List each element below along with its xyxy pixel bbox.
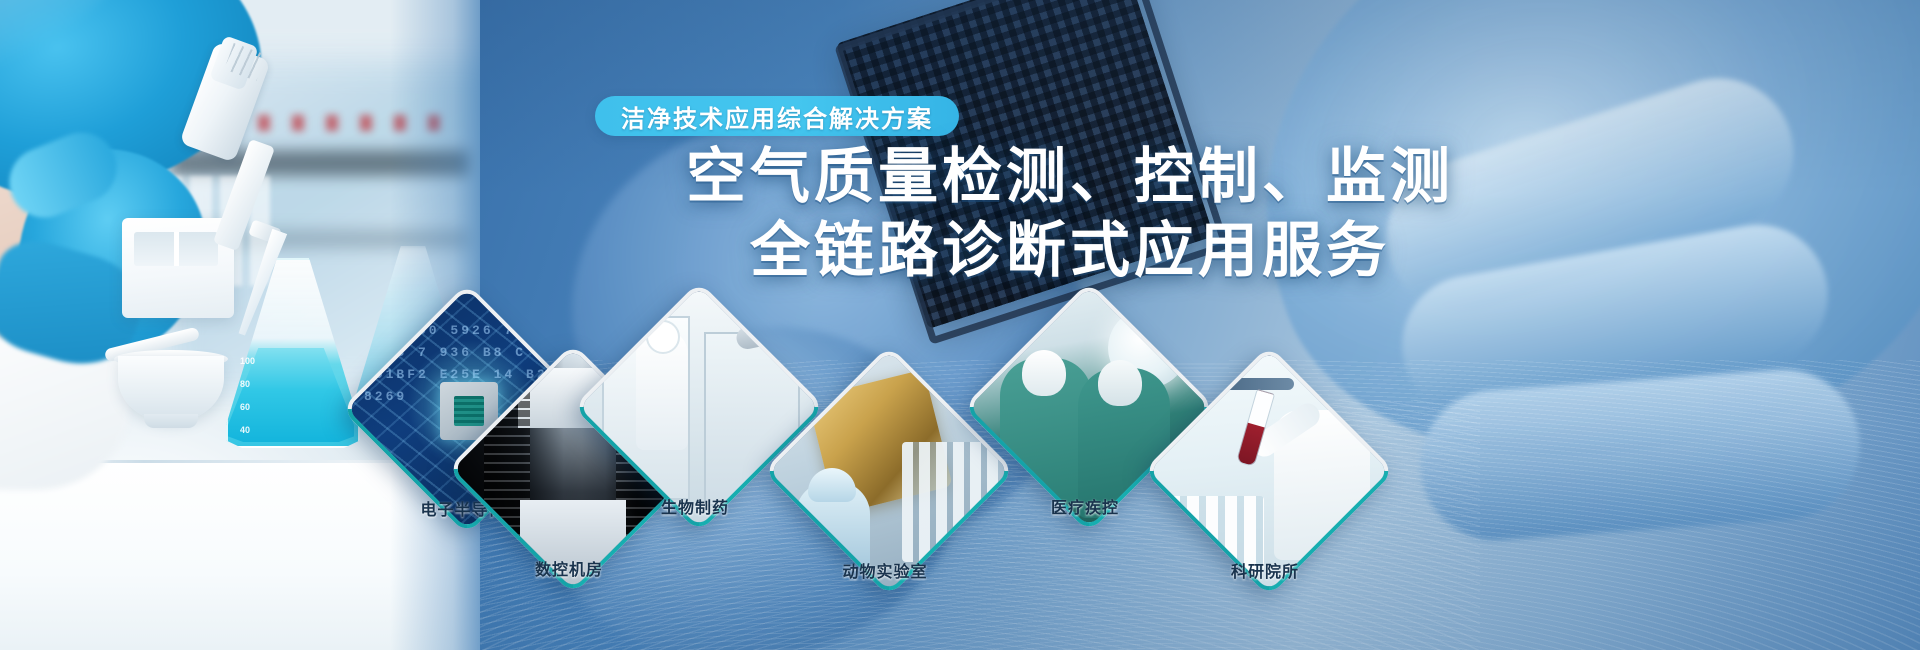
industry-card-animal-laboratory[interactable]: 动物实验室 <box>800 382 970 552</box>
card-label: 生物制药 <box>570 494 820 518</box>
pharma-technician-hood <box>646 320 680 354</box>
card-label: 数控机房 <box>444 556 694 580</box>
surgeon-two-mask <box>1098 360 1142 406</box>
card-label: 动物实验室 <box>760 558 1010 582</box>
card-image-animal-lab <box>774 356 1004 586</box>
card-label: 科研院所 <box>1140 558 1390 582</box>
industry-card-research-institutes[interactable]: 科研院所 <box>1180 382 1350 552</box>
card-image-research-lab <box>1154 356 1384 586</box>
promo-banner: 100 80 60 40 洁净技术应用综合解决方案 空气质量检测、控制、监测 全… <box>0 0 1920 650</box>
industry-card-biopharmaceutical[interactable]: 生物制药 <box>610 318 780 488</box>
industry-card-row: E2 F D0 5926 7 8 0 E B3 7 936 B8 C A 0AD… <box>0 0 1920 650</box>
industry-card-medical-disease-control[interactable]: 医疗疾控 <box>1000 318 1170 488</box>
pharma-duct <box>734 315 807 351</box>
surgeon-one-mask <box>1022 350 1066 396</box>
